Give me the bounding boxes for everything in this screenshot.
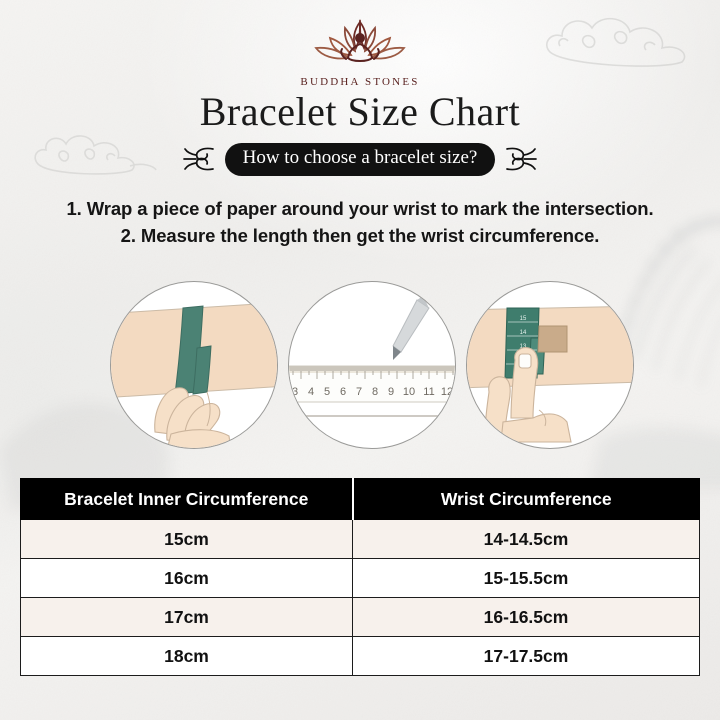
cell-bracelet-size: 18cm [21, 637, 353, 676]
flourish-swirl-icon [503, 145, 537, 173]
size-chart-page: BUDDHA STONES Bracelet Size Chart How to… [0, 0, 720, 720]
lotus-meditation-icon [304, 16, 416, 70]
svg-text:5: 5 [324, 386, 330, 398]
brand-name: BUDDHA STONES [0, 76, 720, 88]
instruction-step-2: 2. Measure the length then get the wrist… [0, 223, 720, 250]
brand-logo: BUDDHA STONES [0, 16, 720, 88]
tape-measure-wrist-icon: 151413 [467, 282, 633, 448]
instruction-step-1: 1. Wrap a piece of paper around your wri… [0, 196, 720, 223]
illustration-row: 34 56 78 910 1112 [0, 276, 720, 461]
table-row: 18cm 17-17.5cm [21, 637, 700, 676]
cell-wrist-size: 17-17.5cm [353, 637, 700, 676]
cell-bracelet-size: 15cm [21, 520, 353, 559]
cell-wrist-size: 15-15.5cm [353, 559, 700, 598]
banner-pill: How to choose a bracelet size? [225, 143, 496, 176]
page-title: Bracelet Size Chart [0, 88, 720, 135]
table-row: 15cm 14-14.5cm [21, 520, 700, 559]
column-header-wrist: Wrist Circumference [353, 479, 700, 520]
svg-text:3: 3 [292, 386, 298, 398]
cell-wrist-size: 14-14.5cm [353, 520, 700, 559]
svg-text:6: 6 [340, 386, 346, 398]
cell-bracelet-size: 16cm [21, 559, 353, 598]
table-header-row: Bracelet Inner Circumference Wrist Circu… [21, 479, 700, 520]
svg-text:7: 7 [356, 386, 362, 398]
hand-wrist-paper-icon [111, 282, 277, 448]
illustration-measuring-tape-on-wrist: 151413 [466, 281, 634, 449]
cell-bracelet-size: 17cm [21, 598, 353, 637]
instructions: 1. Wrap a piece of paper around your wri… [0, 196, 720, 250]
table-row: 17cm 16-16.5cm [21, 598, 700, 637]
svg-text:12: 12 [441, 386, 453, 398]
size-table: Bracelet Inner Circumference Wrist Circu… [20, 478, 700, 676]
svg-text:4: 4 [308, 386, 314, 398]
cell-wrist-size: 16-16.5cm [353, 598, 700, 637]
svg-text:8: 8 [372, 386, 378, 398]
illustration-ruler-and-pencil: 34 56 78 910 1112 [288, 281, 456, 449]
svg-text:15: 15 [520, 316, 527, 322]
illustration-wrist-with-paper-strip [110, 281, 278, 449]
svg-text:11: 11 [423, 386, 434, 398]
svg-text:10: 10 [403, 386, 415, 398]
flourish-swirl-icon [183, 145, 217, 173]
banner-row: How to choose a bracelet size? [0, 143, 720, 176]
svg-text:14: 14 [520, 330, 527, 336]
column-header-bracelet: Bracelet Inner Circumference [21, 479, 353, 520]
ruler-pencil-icon: 34 56 78 910 1112 [289, 282, 455, 448]
svg-text:9: 9 [388, 386, 394, 398]
table-row: 16cm 15-15.5cm [21, 559, 700, 598]
